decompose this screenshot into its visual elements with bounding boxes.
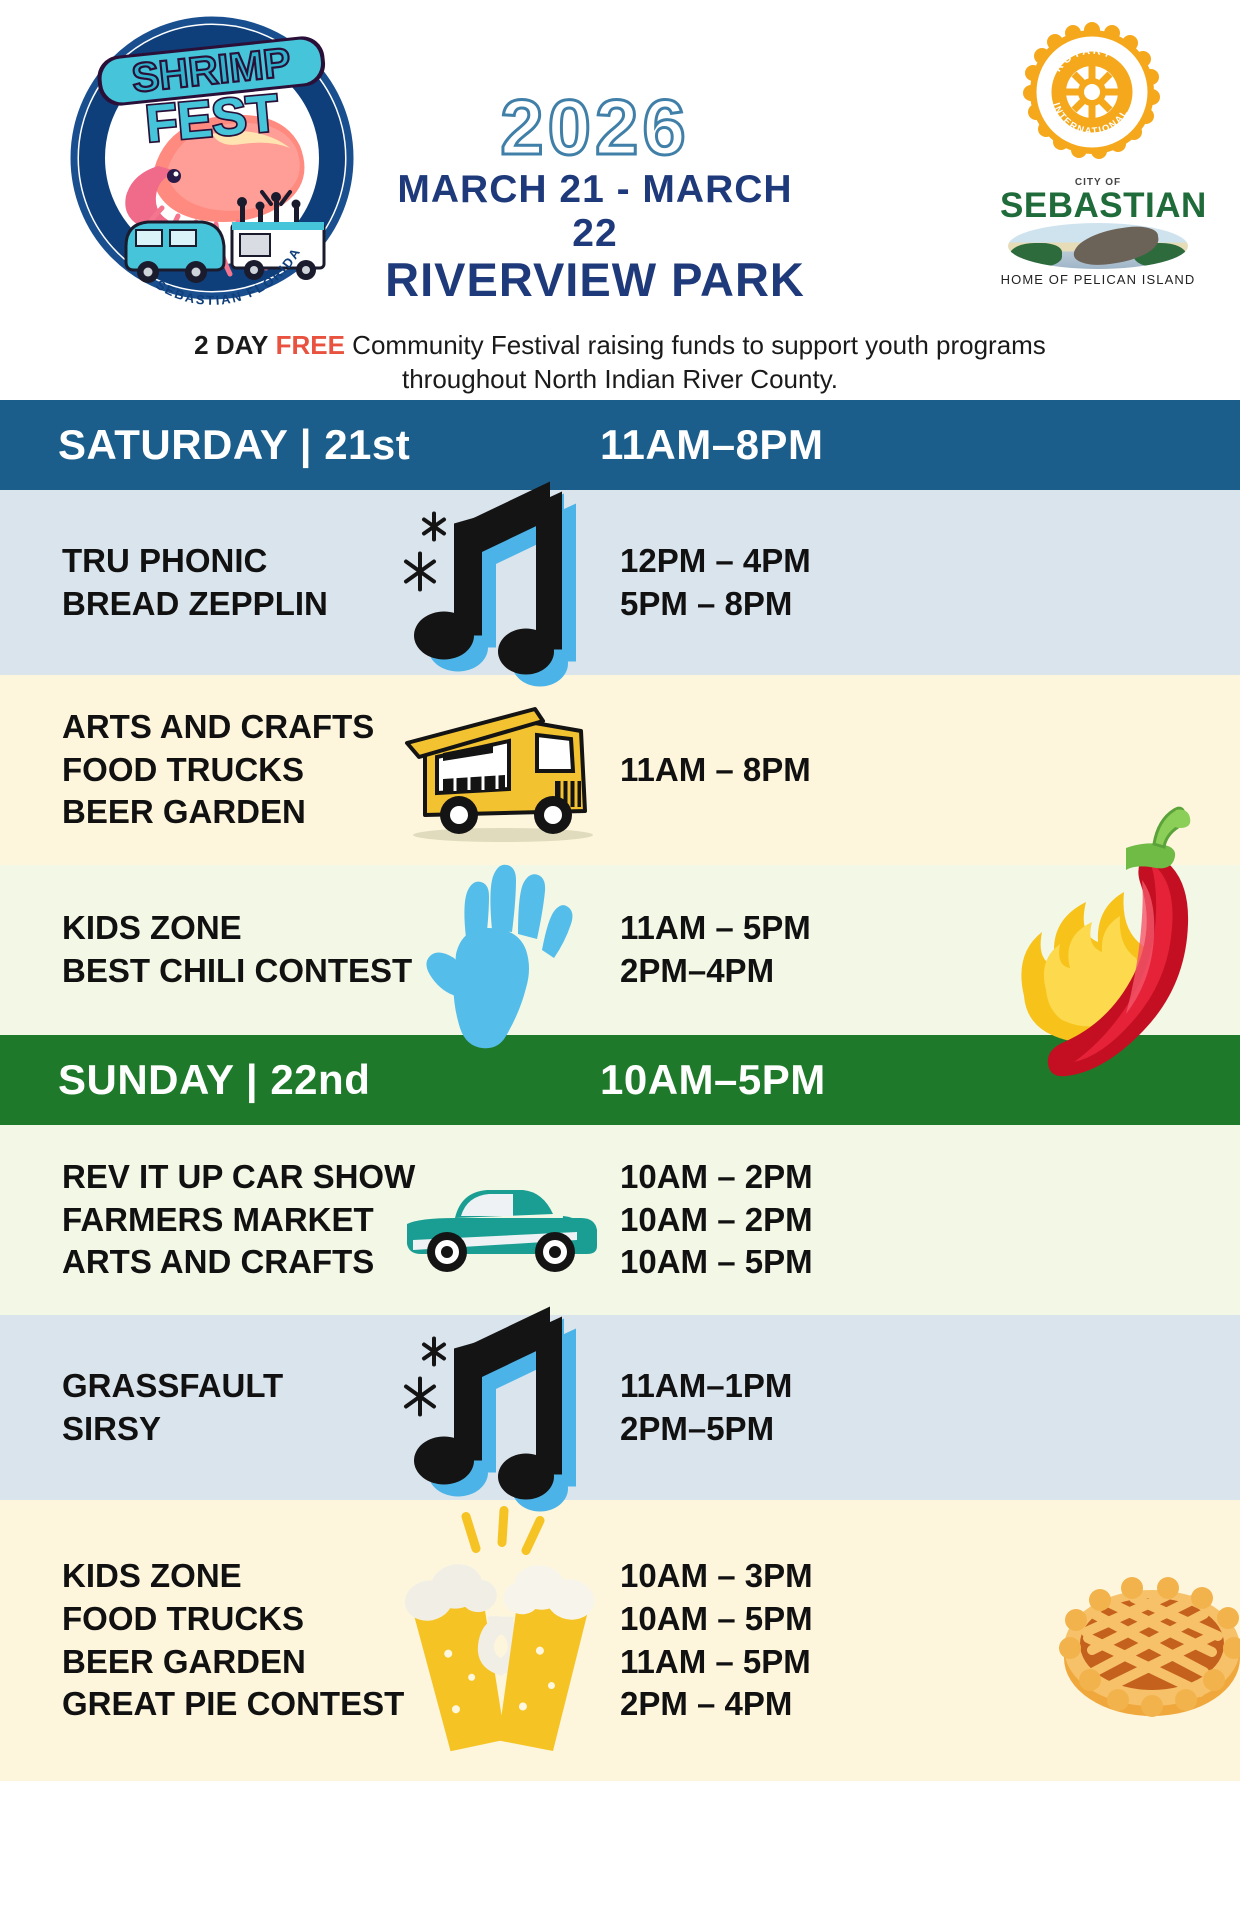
- row-item-label: BEER GARDEN: [62, 1641, 360, 1684]
- sunday-header-bar: SUNDAY | 22nd 10AM–5PM: [0, 1035, 1240, 1125]
- row-time-label: 11AM – 5PM: [620, 907, 811, 950]
- row-times: 12PM – 4PM 5PM – 8PM: [620, 540, 811, 626]
- row-time-label: 10AM – 5PM: [620, 1598, 813, 1641]
- row-time-label: 10AM – 3PM: [620, 1555, 813, 1598]
- row-time-label: 2PM–5PM: [620, 1408, 792, 1451]
- row-times: 11AM – 8PM: [620, 749, 811, 792]
- row-item-label: REV IT UP CAR SHOW: [62, 1156, 360, 1199]
- row-time-label: 2PM – 4PM: [620, 1683, 813, 1726]
- event-dates: MARCH 21 - MARCH 22: [370, 168, 820, 255]
- subtitle-bold-prefix: 2 DAY: [194, 330, 268, 360]
- row-item-label: GREAT PIE CONTEST: [62, 1683, 360, 1726]
- row-time-label: 10AM – 2PM: [620, 1156, 813, 1199]
- schedule-row: KIDS ZONE FOOD TRUCKS BEER GARDEN GREAT …: [0, 1500, 1240, 1781]
- row-items: GRASSFAULT SIRSY: [0, 1365, 360, 1451]
- row-item-label: ARTS AND CRAFTS: [62, 706, 360, 749]
- subtitle-free-word: FREE: [276, 330, 345, 360]
- schedule-row: GRASSFAULT SIRSY: [0, 1315, 1240, 1500]
- row-time-label: 10AM – 2PM: [620, 1199, 813, 1242]
- rotary-international-logo: ROTARY INTERNATIONAL: [1022, 22, 1162, 162]
- row-times: 11AM – 5PM 2PM–4PM: [620, 907, 811, 993]
- sebastian-name-text: SEBASTIAN: [1000, 189, 1196, 222]
- saturday-header-bar: SATURDAY | 21st 11AM–8PM: [0, 400, 1240, 490]
- row-items: KIDS ZONE FOOD TRUCKS BEER GARDEN GREAT …: [0, 1555, 360, 1727]
- schedule-row: KIDS ZONE BEST CHILI CONTEST 11AM – 5: [0, 865, 1240, 1035]
- row-item-label: KIDS ZONE: [62, 907, 360, 950]
- saturday-label: SATURDAY | 21st: [0, 421, 600, 469]
- row-time-label: 10AM – 5PM: [620, 1241, 813, 1284]
- row-items: ARTS AND CRAFTS FOOD TRUCKS BEER GARDEN: [0, 706, 360, 835]
- schedule-row: REV IT UP CAR SHOW FARMERS MARKET ARTS A…: [0, 1125, 1240, 1315]
- row-item-label: FOOD TRUCKS: [62, 749, 360, 792]
- event-schedule: SATURDAY | 21st 11AM–8PM TRU PHONIC BREA…: [0, 400, 1240, 1781]
- row-times: 10AM – 3PM 10AM – 5PM 11AM – 5PM 2PM – 4…: [620, 1555, 813, 1727]
- schedule-row: ARTS AND CRAFTS FOOD TRUCKS BEER GARDEN: [0, 675, 1240, 865]
- row-times: 10AM – 2PM 10AM – 2PM 10AM – 5PM: [620, 1156, 813, 1285]
- sebastian-pelican-emblem: [1008, 223, 1188, 269]
- festival-subtitle: 2 DAY FREE Community Festival raising fu…: [0, 328, 1240, 397]
- music-note-icon: [380, 490, 620, 675]
- row-item-label: SIRSY: [62, 1408, 360, 1451]
- event-year: 2026: [370, 90, 820, 164]
- row-time-label: 11AM – 5PM: [620, 1641, 813, 1684]
- saturday-hours: 11AM–8PM: [600, 421, 823, 469]
- emblem-land-left: [1010, 243, 1062, 267]
- row-item-label: BEST CHILI CONTEST: [62, 950, 360, 993]
- row-item-label: FOOD TRUCKS: [62, 1598, 360, 1641]
- row-time-label: 11AM–1PM: [620, 1365, 792, 1408]
- row-item-label: ARTS AND CRAFTS: [62, 1241, 360, 1284]
- sebastian-tagline: HOME OF PELICAN ISLAND: [1000, 272, 1196, 287]
- city-of-sebastian-logo: CITY OF SEBASTIAN HOME OF PELICAN ISLAND: [1000, 178, 1196, 296]
- row-item-label: BEER GARDEN: [62, 791, 360, 834]
- sunday-hours: 10AM–5PM: [600, 1056, 826, 1104]
- sunday-label: SUNDAY | 22nd: [0, 1056, 600, 1104]
- row-time-label: 2PM–4PM: [620, 950, 811, 993]
- row-times: 11AM–1PM 2PM–5PM: [620, 1365, 792, 1451]
- row-item-label: TRU PHONIC: [62, 540, 360, 583]
- row-time-label: 5PM – 8PM: [620, 583, 811, 626]
- logo-fest-word: FEST: [143, 84, 281, 153]
- subtitle-rest: Community Festival raising funds to supp…: [345, 330, 1046, 394]
- music-note-icon: [380, 1315, 620, 1500]
- shrimp-fest-logo: SHRIMP FEST SEBASTIAN FLORIDA: [62, 8, 362, 308]
- row-item-label: KIDS ZONE: [62, 1555, 360, 1598]
- row-time-label: 12PM – 4PM: [620, 540, 811, 583]
- poster-header: SHRIMP FEST SEBASTIAN FLORIDA 2026 MARCH…: [0, 0, 1240, 400]
- row-items: TRU PHONIC BREAD ZEPPLIN: [0, 540, 360, 626]
- row-items: KIDS ZONE BEST CHILI CONTEST: [0, 907, 360, 993]
- row-item-label: GRASSFAULT: [62, 1365, 360, 1408]
- beer-mugs-icon: [380, 1500, 620, 1781]
- classic-car-icon: [380, 1125, 620, 1315]
- food-truck-icon: [380, 675, 620, 865]
- row-time-label: 11AM – 8PM: [620, 749, 811, 792]
- schedule-row: TRU PHONIC BREAD ZEPPLIN: [0, 490, 1240, 675]
- row-items: REV IT UP CAR SHOW FARMERS MARKET ARTS A…: [0, 1156, 360, 1285]
- row-item-label: BREAD ZEPPLIN: [62, 583, 360, 626]
- handprint-icon: [380, 865, 620, 1035]
- row-item-label: FARMERS MARKET: [62, 1199, 360, 1242]
- event-title-block: 2026 MARCH 21 - MARCH 22 RIVERVIEW PARK: [370, 90, 820, 305]
- event-venue: RIVERVIEW PARK: [370, 255, 820, 304]
